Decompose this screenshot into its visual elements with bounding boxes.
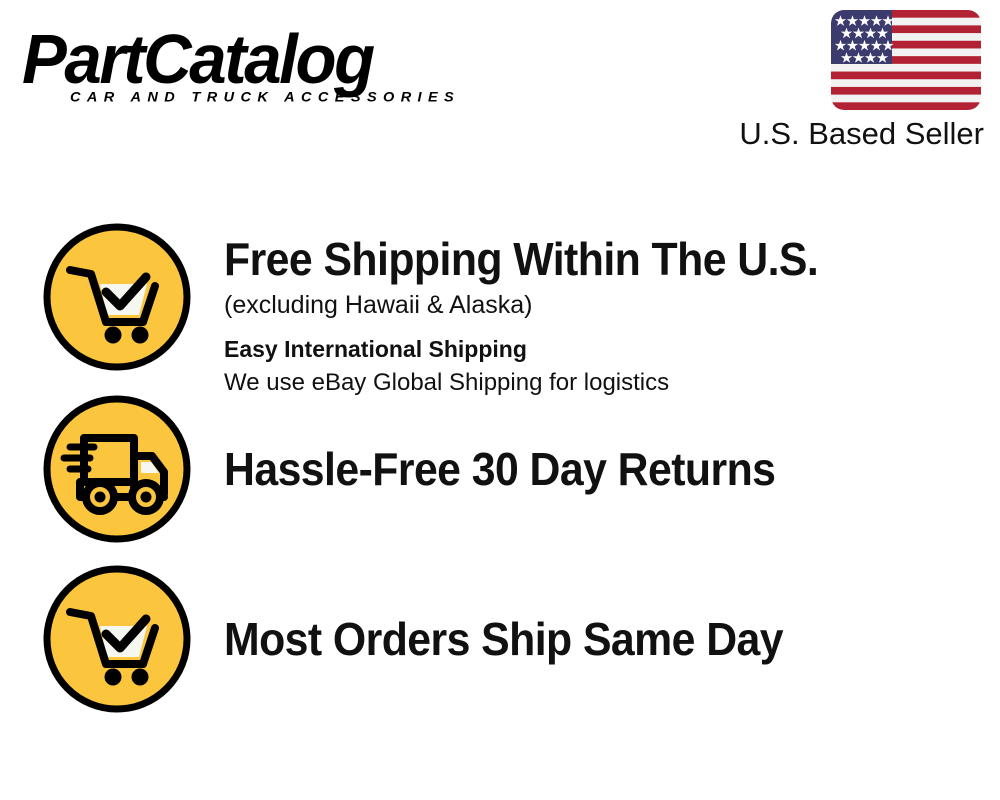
brand-logo[interactable]: PartCatalog CAR AND TRUCK ACCESSORIES [22, 22, 492, 118]
feature-title: Hassle-Free 30 Day Returns [224, 442, 946, 496]
seller-badge-label: U.S. Based Seller [716, 114, 984, 154]
feature-row-same-day-shipping: Most Orders Ship Same Day [0, 564, 1000, 724]
feature-note: (excluding Hawaii & Alaska) [224, 288, 1000, 322]
delivery-truck-icon [42, 394, 192, 544]
feature-text-block: Hassle-Free 30 Day Returns [192, 394, 1000, 496]
shopping-cart-check-icon [42, 564, 192, 714]
feature-text-block: Most Orders Ship Same Day [192, 564, 1000, 666]
feature-subheading: Easy International Shipping [224, 333, 1000, 365]
feature-row-returns: Hassle-Free 30 Day Returns [0, 394, 1000, 564]
us-based-seller-badge: U.S. Based Seller [716, 10, 986, 154]
feature-text-block: Free Shipping Within The U.S. (excluding… [192, 222, 1000, 399]
feature-title: Most Orders Ship Same Day [224, 612, 946, 666]
shopping-cart-check-icon [42, 222, 192, 372]
feature-title: Free Shipping Within The U.S. [224, 232, 946, 286]
page-header: PartCatalog CAR AND TRUCK ACCESSORIES [0, 0, 1000, 170]
brand-wordmark: PartCatalog [22, 22, 473, 96]
brand-tagline: CAR AND TRUCK ACCESSORIES [70, 90, 492, 105]
feature-row-free-shipping: Free Shipping Within The U.S. (excluding… [0, 222, 1000, 394]
feature-list: Free Shipping Within The U.S. (excluding… [0, 222, 1000, 724]
us-flag-icon [831, 10, 981, 110]
